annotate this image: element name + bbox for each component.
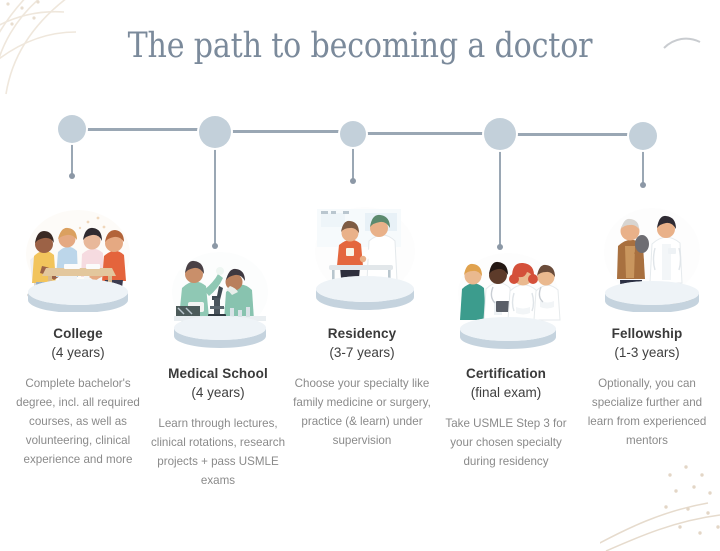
timeline-drop-line-4 <box>499 148 501 246</box>
timeline-connector-2 <box>231 130 340 133</box>
timeline-node-fellowship[interactable] <box>629 122 657 150</box>
step-heading-medical-school: Medical School <box>145 366 291 383</box>
timeline-drop-line-3 <box>352 145 354 180</box>
step-heading-certification: Certification <box>436 366 576 383</box>
infographic-slide: The path to becoming a doctor <box>0 0 720 539</box>
timeline-drop-line-5 <box>642 148 644 184</box>
timeline-drop-line-1 <box>71 141 73 175</box>
step-column-residency: Residency (3-7 years) Choose your specia… <box>292 326 432 451</box>
step-body-certification: Take USMLE Step 3 for your chosen specia… <box>436 415 576 471</box>
step-heading-college: College <box>8 326 148 343</box>
step-column-certification: Certification (final exam) Take USMLE St… <box>436 366 576 472</box>
step-duration-medical-school: (4 years) <box>145 383 291 403</box>
mentor-and-patient-illustration <box>592 196 712 312</box>
step-heading-fellowship: Fellowship <box>578 326 716 343</box>
timeline-drop-line-2 <box>214 146 216 245</box>
step-body-residency: Choose your specialty like family medici… <box>292 375 432 450</box>
timeline-endpoint-dot-3 <box>350 178 356 184</box>
medical-team-illustration <box>446 243 570 351</box>
step-column-fellowship: Fellowship (1-3 years) Optionally, you c… <box>578 326 716 451</box>
dots-decoration-icon <box>600 441 720 551</box>
step-duration-residency: (3-7 years) <box>292 343 432 363</box>
timeline-node-college[interactable] <box>58 115 86 143</box>
step-body-fellowship: Optionally, you can specialize further a… <box>578 375 716 450</box>
step-body-college: Complete bachelor's degree, incl. all re… <box>8 375 148 469</box>
step-duration-certification: (final exam) <box>436 383 576 403</box>
timeline-node-residency[interactable] <box>340 121 366 147</box>
step-duration-fellowship: (1-3 years) <box>578 343 716 363</box>
timeline-endpoint-dot-5 <box>640 182 646 188</box>
students-study-table-illustration <box>12 196 144 312</box>
step-column-medical-school: Medical School (4 years) Learn through l… <box>145 366 291 491</box>
timeline-connector-4 <box>516 133 629 136</box>
timeline-node-medical-school[interactable] <box>199 116 231 148</box>
step-heading-residency: Residency <box>292 326 432 343</box>
step-column-college: College (4 years) Complete bachelor's de… <box>8 326 148 469</box>
timeline-endpoint-dot-1 <box>69 173 75 179</box>
timeline-connector-1 <box>86 128 199 131</box>
step-body-medical-school: Learn through lectures, clinical rotatio… <box>145 415 291 490</box>
timeline-node-certification[interactable] <box>484 118 516 150</box>
timeline-connector-3 <box>366 132 484 135</box>
step-duration-college: (4 years) <box>8 343 148 363</box>
lab-microscope-illustration <box>160 240 280 348</box>
doctor-examining-patient-illustration <box>303 195 427 311</box>
